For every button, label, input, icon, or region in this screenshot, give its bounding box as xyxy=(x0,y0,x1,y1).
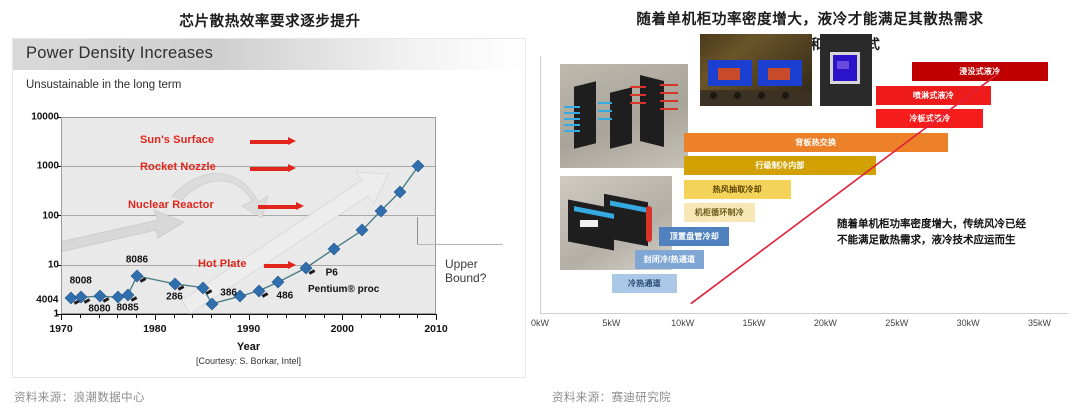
x-minor-tick xyxy=(174,314,175,318)
x-minor-tick xyxy=(211,314,212,318)
x-minor-tick xyxy=(324,314,325,318)
callout-line-2: 不能满足散热需求，液冷技术应运而生 xyxy=(837,232,1061,248)
point-label-P6: P6 xyxy=(326,268,338,279)
x-tick-mark-2010 xyxy=(436,314,437,320)
x-minor-tick xyxy=(230,314,231,318)
right-x-tick-20kW: 20kW xyxy=(814,318,837,328)
right-figure: 浸没式液冷喷淋式液冷冷板式液冷背板热交换行级制冷内部热风抽取冷却机柜循环制冷顶置… xyxy=(540,56,1068,366)
upper-bound-tick xyxy=(417,217,418,245)
right-x-tick-0kW: 0kW xyxy=(531,318,549,328)
left-panel-title: 芯片散热效率要求逐步提升 xyxy=(0,10,540,31)
point-label-4004: 4004 xyxy=(36,295,58,306)
right-source-note: 资料来源：赛迪研究院 xyxy=(552,389,671,405)
x-minor-tick xyxy=(305,314,306,318)
right-x-tick-35kW: 35kW xyxy=(1028,318,1051,328)
right-x-tick-10kW: 10kW xyxy=(671,318,694,328)
x-minor-tick xyxy=(136,314,137,318)
x-minor-tick xyxy=(417,314,418,318)
point-label-486: 486 xyxy=(277,290,294,301)
point-label-8085: 8085 xyxy=(117,303,139,314)
right-x-tick-30kW: 30kW xyxy=(957,318,980,328)
x-minor-tick xyxy=(286,314,287,318)
left-figure: Power Density Increases Unsustainable in… xyxy=(12,38,526,378)
point-label-386: 386 xyxy=(220,287,237,298)
upper-bound-line-1: Upper xyxy=(445,257,515,271)
slide-subtitle: Unsustainable in the long term xyxy=(26,79,181,91)
slide-page: 芯片散热效率要求逐步提升 Power Density Increases Uns… xyxy=(0,0,1080,417)
x-minor-tick xyxy=(192,314,193,318)
upper-bound-line-2: Bound? xyxy=(445,271,515,285)
plot-area: Sun's Surface Rocket Nozzle Nuclear Reac… xyxy=(61,117,436,314)
point-label-8008: 8008 xyxy=(70,276,92,287)
x-minor-tick xyxy=(399,314,400,318)
upper-bound-label: Upper Bound? xyxy=(445,257,515,285)
x-tick-label-2010: 2010 xyxy=(424,323,447,335)
x-tick-label-2000: 2000 xyxy=(331,323,354,335)
point-label-8086: 8086 xyxy=(126,254,148,265)
x-tick-mark-1970 xyxy=(61,314,62,320)
x-tick-label-1990: 1990 xyxy=(237,323,260,335)
x-tick-mark-1980 xyxy=(155,314,156,320)
callout-line-1: 随着单机柜功率密度增大，传统风冷已经 xyxy=(837,216,1061,232)
y-axis: 10000 1000 100 10 1 xyxy=(13,117,59,314)
x-minor-tick xyxy=(99,314,100,318)
x-minor-tick xyxy=(117,314,118,318)
trend-line-overlay xyxy=(541,56,1069,314)
right-x-tick-15kW: 15kW xyxy=(743,318,766,328)
cooling-method-chart: 浸没式液冷喷淋式液冷冷板式液冷背板热交换行级制冷内部热风抽取冷却机柜循环制冷顶置… xyxy=(540,56,1068,314)
x-tick-mark-2000 xyxy=(342,314,343,320)
slide-header-title: Power Density Increases xyxy=(26,44,213,63)
x-minor-tick xyxy=(267,314,268,318)
right-panel-title: 随着单机柜功率密度增大，液冷才能满足其散热需求 xyxy=(540,8,1080,29)
y-tick-1000: 1000 xyxy=(37,161,59,172)
right-x-tick-5kW: 5kW xyxy=(602,318,620,328)
left-source-note: 资料来源：浪潮数据中心 xyxy=(14,389,145,405)
x-tick-label-1980: 1980 xyxy=(143,323,166,335)
chart-courtesy: [Courtesy: S. Borkar, Intel] xyxy=(61,356,436,366)
x-tick-label-1970: 1970 xyxy=(49,323,72,335)
x-minor-tick xyxy=(80,314,81,318)
series-note-label: Pentium® proc xyxy=(308,284,379,295)
y-tick-10000: 10000 xyxy=(31,112,59,123)
x-minor-tick xyxy=(361,314,362,318)
x-tick-mark-1990 xyxy=(249,314,250,320)
right-x-tick-25kW: 25kW xyxy=(885,318,908,328)
chart-callout: 随着单机柜功率密度增大，传统风冷已经 不能满足散热需求，液冷技术应运而生 xyxy=(837,216,1061,248)
upper-bound-line xyxy=(417,244,503,245)
x-axis-label: Year xyxy=(61,341,436,353)
point-label-286: 286 xyxy=(166,291,183,302)
x-minor-tick xyxy=(380,314,381,318)
